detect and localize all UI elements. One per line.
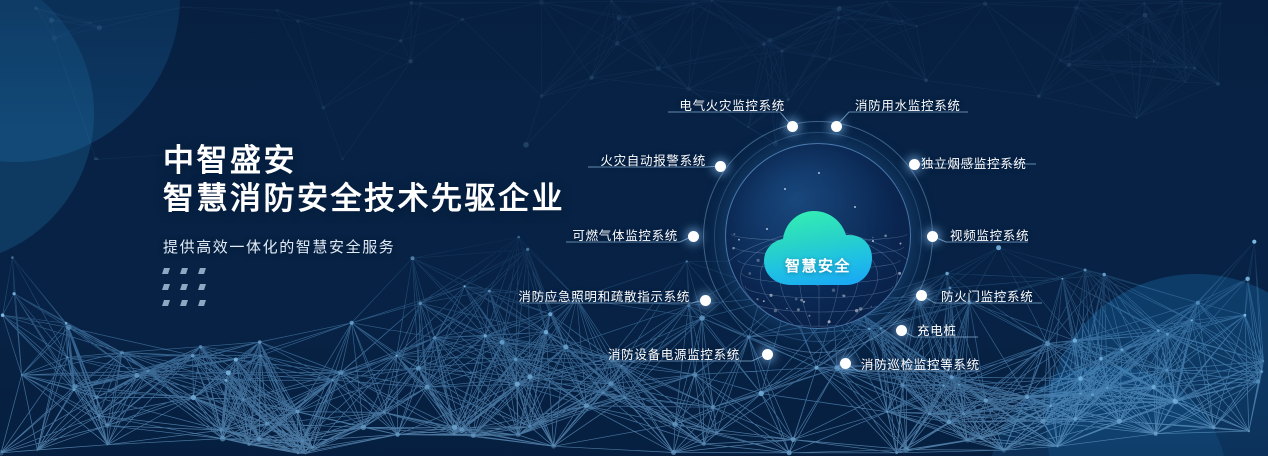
node-charging-pile[interactable] bbox=[896, 325, 907, 336]
system-label-fire-water[interactable]: 消防用水监控系统 bbox=[855, 95, 961, 118]
brand-title-line1: 中智盛安 bbox=[163, 142, 565, 180]
system-label-smoke-detector[interactable]: 独立烟感监控系统 bbox=[921, 153, 1027, 176]
system-label-equipment-power[interactable]: 消防设备电源监控系统 bbox=[608, 344, 740, 367]
headline-block: 中智盛安 智慧消防安全技术先驱企业 提供高效一体化的智慧安全服务 bbox=[163, 142, 565, 257]
node-equipment-power[interactable] bbox=[762, 349, 773, 360]
node-combustible-gas[interactable] bbox=[688, 231, 699, 242]
node-fire-alarm[interactable] bbox=[715, 161, 726, 172]
node-smoke-detector[interactable] bbox=[909, 159, 920, 170]
hero-banner: 中智盛安 智慧消防安全技术先驱企业 提供高效一体化的智慧安全服务 bbox=[0, 0, 1268, 456]
cloud-label: 智慧安全 bbox=[758, 255, 878, 276]
system-label-charging-pile[interactable]: 充电桩 bbox=[917, 320, 957, 343]
brand-title-line2: 智慧消防安全技术先驱企业 bbox=[163, 180, 565, 218]
node-emergency-lighting[interactable] bbox=[700, 295, 711, 306]
system-label-combustible-gas[interactable]: 可燃气体监控系统 bbox=[572, 225, 678, 248]
system-label-emergency-lighting[interactable]: 消防应急照明和疏散指示系统 bbox=[518, 286, 690, 309]
node-electrical-fire[interactable] bbox=[787, 121, 798, 132]
system-label-fire-door[interactable]: 防火门监控系统 bbox=[941, 286, 1033, 309]
node-fire-door[interactable] bbox=[916, 290, 927, 301]
node-fire-water[interactable] bbox=[831, 121, 842, 132]
node-video-surveillance[interactable] bbox=[927, 231, 938, 242]
cloud-icon: 智慧安全 bbox=[758, 205, 878, 291]
node-fire-inspection[interactable] bbox=[840, 358, 851, 369]
system-label-fire-inspection[interactable]: 消防巡检监控等系统 bbox=[861, 354, 980, 377]
system-label-video-surveillance[interactable]: 视频监控系统 bbox=[950, 225, 1029, 248]
brand-subtitle: 提供高效一体化的智慧安全服务 bbox=[163, 236, 565, 257]
system-label-electrical-fire[interactable]: 电气火灾监控系统 bbox=[679, 95, 785, 118]
decorative-dot-grid bbox=[163, 268, 217, 316]
network-mesh-top bbox=[0, 0, 1268, 160]
system-label-fire-alarm[interactable]: 火灾自动报警系统 bbox=[600, 150, 706, 173]
